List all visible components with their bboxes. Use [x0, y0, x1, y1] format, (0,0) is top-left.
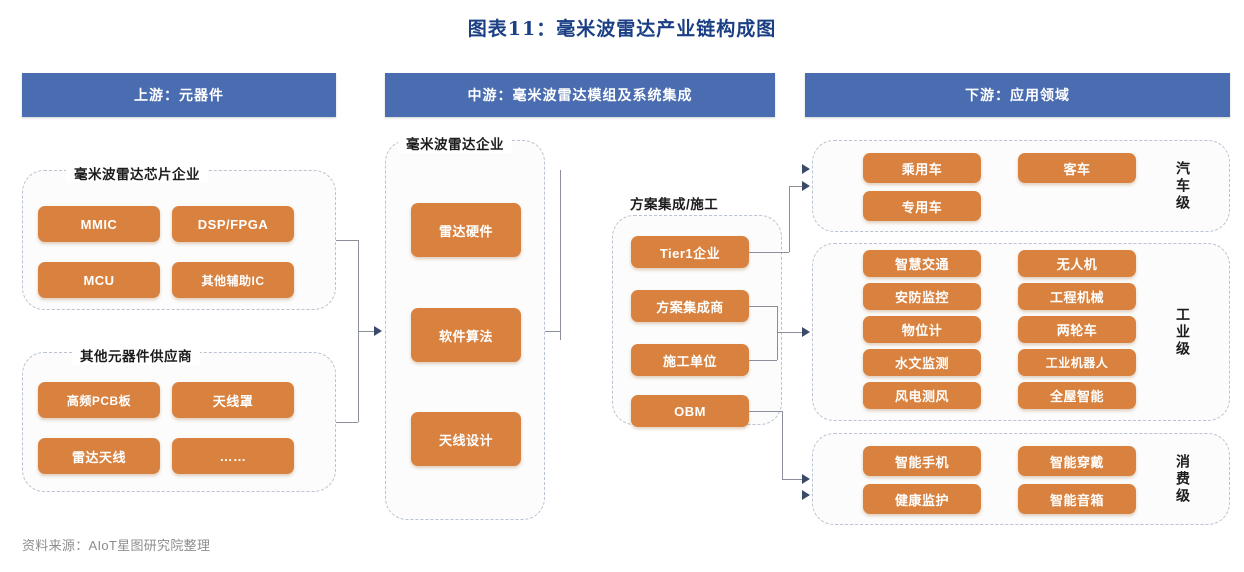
- pill-mmic[interactable]: MMIC: [38, 206, 160, 242]
- connector-tier1-out: [749, 252, 789, 253]
- group-label-automotive: 汽车级: [1168, 150, 1198, 222]
- pill-level-gauge[interactable]: 物位计: [863, 316, 981, 343]
- connector-tier1-riser: [789, 186, 790, 252]
- group-label-industrial: 工业级: [1168, 290, 1198, 374]
- pill-dsp-fpga[interactable]: DSP/FPGA: [172, 206, 294, 242]
- connector-to-industrial: [777, 332, 805, 333]
- pill-drone[interactable]: 无人机: [1018, 250, 1136, 277]
- arrow-to-consumer: [802, 474, 810, 484]
- pill-health-monitoring[interactable]: 健康监护: [863, 484, 981, 514]
- diagram-canvas: 图表11：毫米波雷达产业链构成图 上游：元器件 中游：毫米波雷达模组及系统集成 …: [0, 0, 1244, 572]
- connector-construction-out: [749, 360, 777, 361]
- header-upstream: 上游：元器件: [22, 73, 336, 117]
- group-label-other-component-suppliers: 其他元器件供应商: [72, 345, 200, 365]
- group-label-chip-companies: 毫米波雷达芯片企业: [66, 163, 208, 183]
- pill-obm[interactable]: OBM: [631, 395, 749, 427]
- header-downstream: 下游：应用领域: [805, 73, 1230, 117]
- pill-radar-antenna[interactable]: 雷达天线: [38, 438, 160, 474]
- pill-special-vehicle[interactable]: 专用车: [863, 191, 981, 221]
- group-label-solution-integration: 方案集成/施工: [622, 193, 726, 213]
- pill-two-wheeler[interactable]: 两轮车: [1018, 316, 1136, 343]
- pill-antenna-design[interactable]: 天线设计: [411, 412, 521, 466]
- connector-integrator-out: [749, 306, 777, 307]
- pill-security-monitoring[interactable]: 安防监控: [863, 283, 981, 310]
- pill-solution-integrator[interactable]: 方案集成商: [631, 290, 749, 322]
- pill-bus[interactable]: 客车: [1018, 153, 1136, 183]
- pill-radar-hardware[interactable]: 雷达硬件: [411, 203, 521, 257]
- pill-tier1-enterprise[interactable]: Tier1企业: [631, 236, 749, 268]
- arrow-to-consumer-secondary: [802, 490, 810, 500]
- pill-radome[interactable]: 天线罩: [172, 382, 294, 418]
- source-note: 资料来源：AIoT星图研究院整理: [22, 535, 210, 554]
- pill-smart-wearable[interactable]: 智能穿戴: [1018, 446, 1136, 476]
- pill-high-freq-pcb[interactable]: 高频PCB板: [38, 382, 160, 418]
- group-label-radar-enterprises: 毫米波雷达企业: [398, 133, 512, 153]
- pill-industrial-robot[interactable]: 工业机器人: [1018, 349, 1136, 376]
- pill-mcu[interactable]: MCU: [38, 262, 160, 298]
- pill-whole-house-smart[interactable]: 全屋智能: [1018, 382, 1136, 409]
- connector-obm-riser: [782, 411, 783, 479]
- page-title: 图表11：毫米波雷达产业链构成图: [0, 14, 1244, 41]
- connector-midstream-top-route: [560, 170, 800, 171]
- pill-ellipsis-upstream[interactable]: ……: [172, 438, 294, 474]
- arrow-upstream-to-midstream: [374, 326, 382, 336]
- pill-smart-speaker[interactable]: 智能音箱: [1018, 484, 1136, 514]
- connector-obm-out: [749, 411, 782, 412]
- connector-supplier-out: [336, 422, 358, 423]
- pill-software-algorithm[interactable]: 软件算法: [411, 308, 521, 362]
- arrow-to-industrial: [802, 327, 810, 337]
- connector-radar-enterprise-out: [545, 331, 560, 332]
- pill-construction-unit[interactable]: 施工单位: [631, 344, 749, 376]
- pill-smart-transportation[interactable]: 智慧交通: [863, 250, 981, 277]
- pill-passenger-car[interactable]: 乘用车: [863, 153, 981, 183]
- connector-radar-enterprise-bus: [560, 170, 561, 340]
- pill-wind-measurement[interactable]: 风电测风: [863, 382, 981, 409]
- group-label-consumer: 消费级: [1168, 443, 1198, 515]
- pill-hydrological-monitoring[interactable]: 水文监测: [863, 349, 981, 376]
- arrow-to-automotive: [802, 181, 810, 191]
- pill-smartphone[interactable]: 智能手机: [863, 446, 981, 476]
- pill-other-auxiliary-ic[interactable]: 其他辅助IC: [172, 262, 294, 298]
- arrow-to-automotive-secondary: [802, 164, 810, 174]
- connector-chip-out: [336, 240, 358, 241]
- pill-engineering-machinery[interactable]: 工程机械: [1018, 283, 1136, 310]
- header-midstream: 中游：毫米波雷达模组及系统集成: [385, 73, 775, 117]
